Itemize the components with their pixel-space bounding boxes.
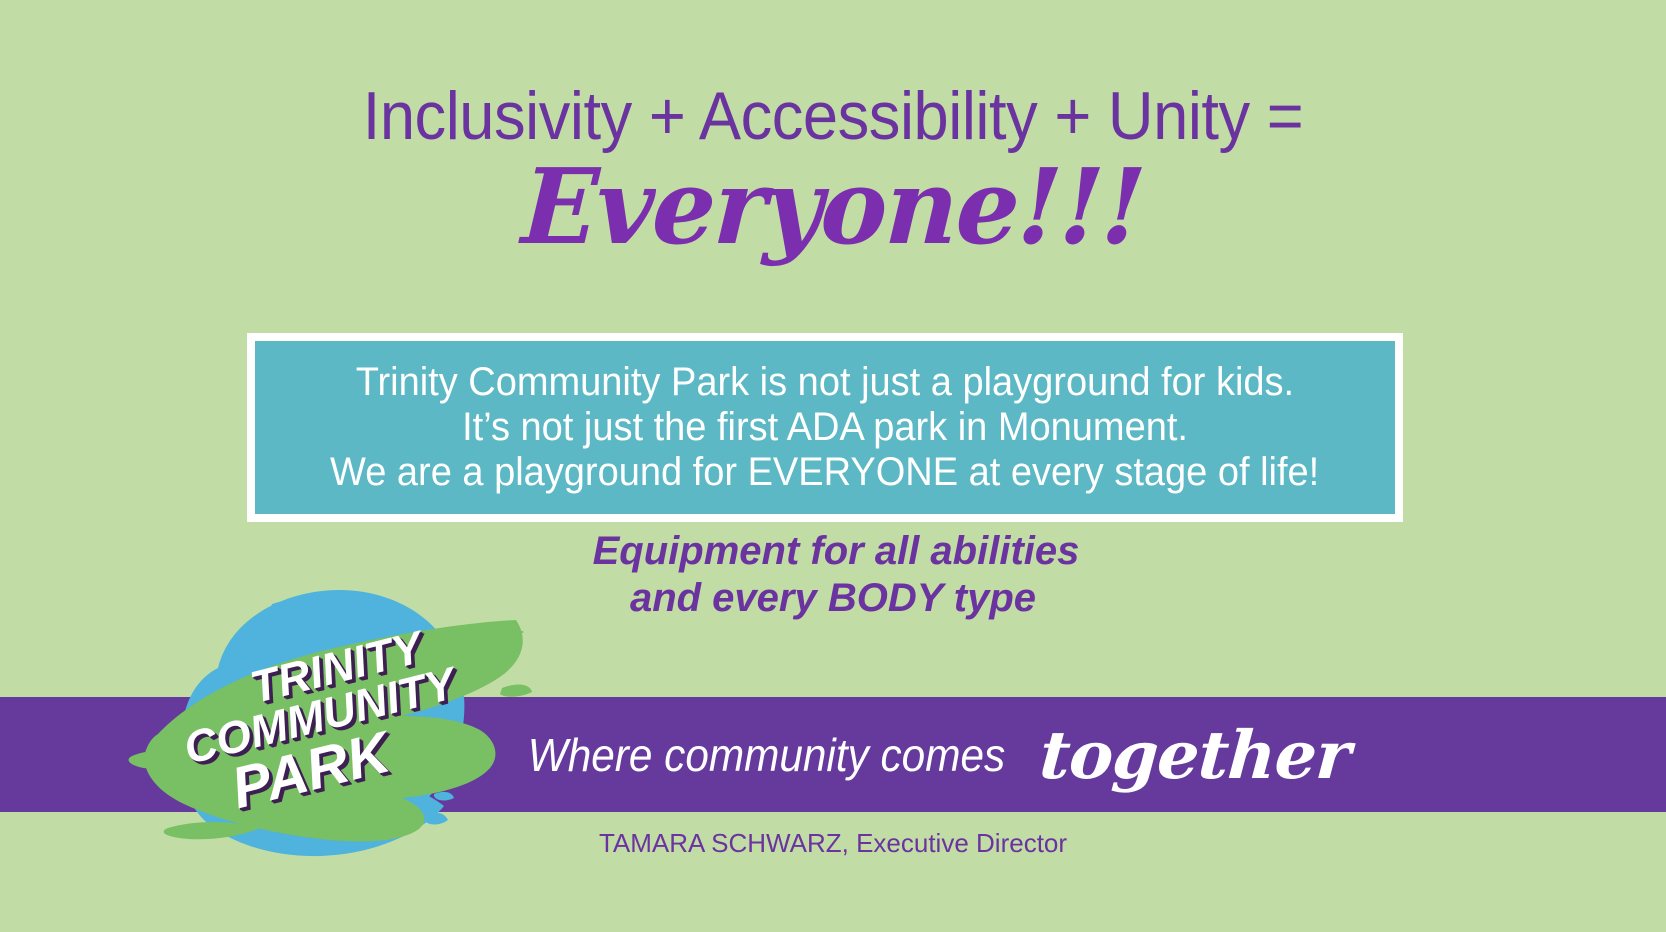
headline-primary: Inclusivity + Accessibility + Unity = — [58, 82, 1607, 150]
statement-box: Trinity Community Park is not just a pla… — [247, 333, 1403, 522]
tagline-main-text: Where community comes — [527, 728, 1004, 782]
statement-line: Trinity Community Park is not just a pla… — [356, 360, 1294, 405]
slide-canvas: Inclusivity + Accessibility + Unity = Ev… — [0, 0, 1666, 932]
brushstroke-logo-icon — [72, 558, 552, 878]
statement-line: It’s not just the first ADA park in Monu… — [462, 405, 1188, 450]
headline-script-everyone: Everyone!!! — [31, 152, 1636, 261]
headline-block: Inclusivity + Accessibility + Unity = Ev… — [0, 82, 1666, 261]
park-logo: TRINITY COMMUNITY PARK — [72, 558, 552, 878]
tagline-script-together: together — [1037, 716, 1352, 794]
statement-line: We are a playground for EVERYONE at ever… — [330, 450, 1319, 495]
